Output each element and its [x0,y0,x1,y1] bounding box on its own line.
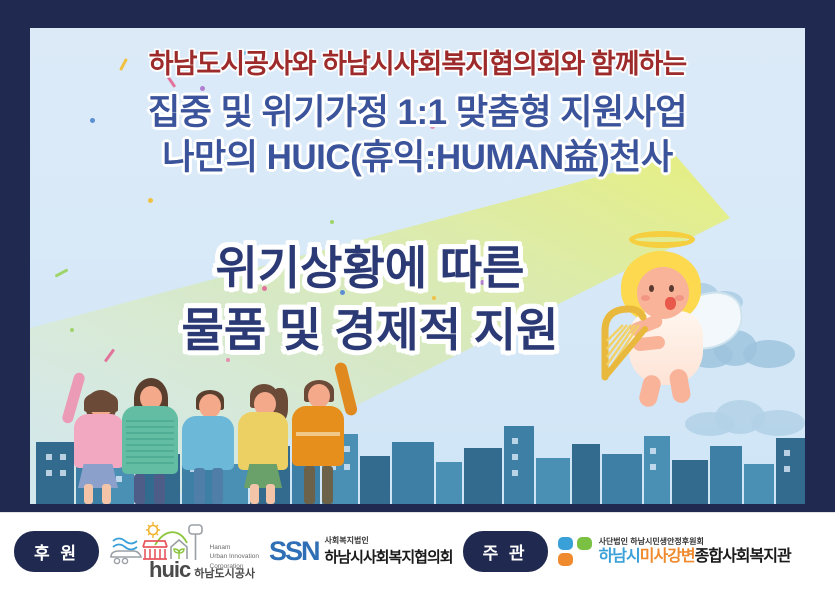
ssn-subtitle: 사회복지법인 [325,536,453,546]
footer-bar: 후 원 [0,512,835,590]
sponsor-badge: 후 원 [14,531,99,572]
logo-ssn: SSN 사회복지법인 하남시사회복지협의회 [269,536,453,567]
headline-block: 위기상황에 따른 물품 및 경제적 지원 [90,238,650,361]
headline-line-2: 물품 및 경제적 지원 [90,300,650,362]
misa-name-part1: 하남시 [599,548,640,565]
poster-sky-panel: 하남도시공사와 하남시사회복지협의회와 함께하는 집중 및 위기가정 1:1 맞… [30,28,805,504]
ssn-text: 사회복지법인 하남시사회복지협의회 [325,536,453,567]
title-block: 하남도시공사와 하남시사회복지협의회와 함께하는 집중 및 위기가정 1:1 맞… [30,28,805,181]
headline-line-1: 위기상황에 따른 [90,238,650,300]
misa-name-part3: 종합사회복지관 [695,548,791,565]
poster-frame: 하남도시공사와 하남시사회복지협의회와 함께하는 집중 및 위기가정 1:1 맞… [0,0,835,512]
huic-wordmark-korean: 하남도시공사 [194,565,255,581]
poster-canvas: 하남도시공사와 하남시사회복지협의회와 함께하는 집중 및 위기가정 1:1 맞… [0,0,835,590]
title-line-three: 나만의 HUIC(휴익:HUMAN益)천사 [30,136,805,181]
person-figure [176,370,240,504]
person-figure [116,364,182,504]
misa-subtitle: 사단법인 하남시민생안정후원회 [599,537,791,547]
logo-huic: Hanam Urban Innovation Corporation huic … [109,521,259,583]
person-figure [284,362,354,504]
misa-text: 사단법인 하남시민생안정후원회 하남시미사강변종합사회복지관 [599,537,791,567]
host-badge: 주 관 [463,531,548,572]
group-of-five-people [60,354,360,504]
misa-emblem-icon [558,537,592,567]
logo-misa: 사단법인 하남시민생안정후원회 하남시미사강변종합사회복지관 [558,537,791,567]
huic-wordmark: huic 하남도시공사 [149,557,255,583]
misa-name: 하남시미사강변종합사회복지관 [599,547,791,566]
misa-name-part2: 미사강변 [640,548,695,565]
ssn-mark: SSN [269,536,319,567]
title-line-two: 집중 및 위기가정 1:1 맞춤형 지원사업 [30,91,805,136]
huic-wordmark-latin: huic [149,557,190,583]
ssn-name: 하남시사회복지협의회 [325,546,453,567]
title-line-red: 하남도시공사와 하남시사회복지협의회와 함께하는 [30,42,805,81]
